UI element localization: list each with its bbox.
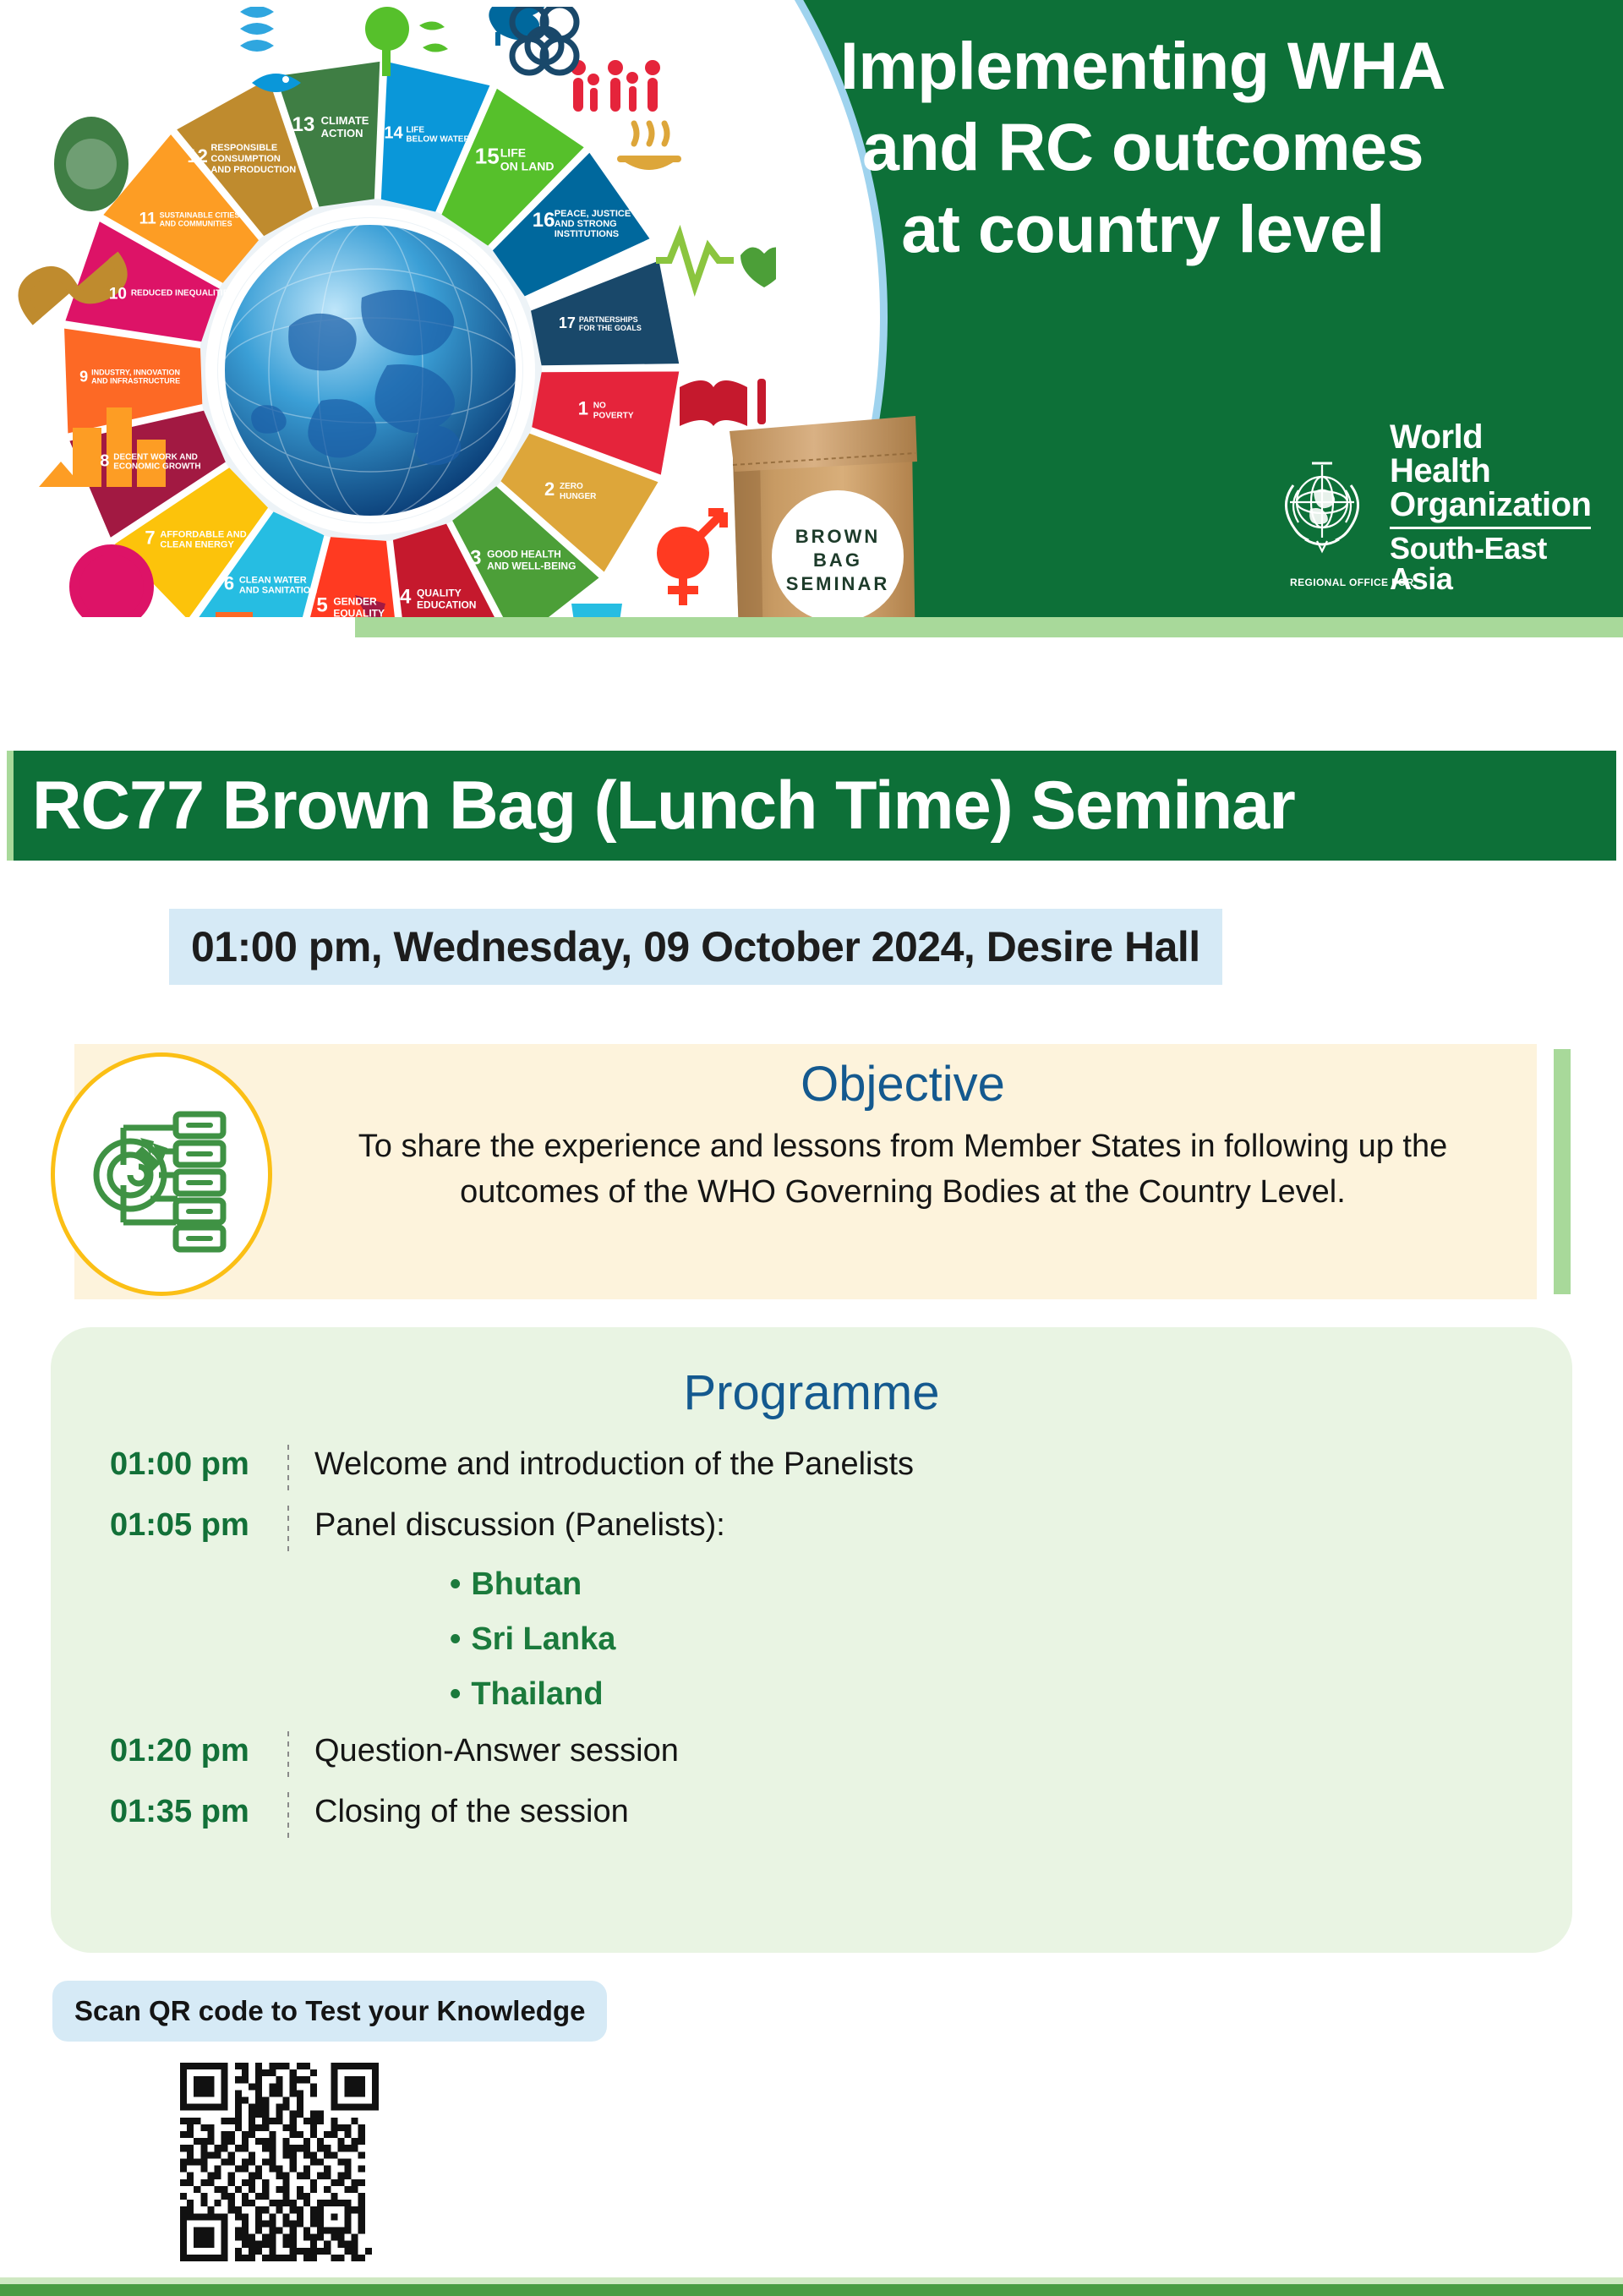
who-regional-label: REGIONAL OFFICE FOR: [1290, 577, 1414, 588]
programme-row: 01:05 pm Panel discussion (Panelists):: [110, 1506, 1572, 1551]
panelist-item: •Bhutan: [450, 1566, 1572, 1603]
svg-text:NO: NO: [593, 402, 606, 411]
poster-root: 1NOPOVERTY 2ZEROHUNGER 3GOOD HEALTHAND W…: [0, 0, 1623, 2296]
svg-text:17: 17: [559, 314, 576, 331]
brown-bag-label-line1: BROWN: [795, 526, 881, 547]
objective-section: Objective To share the experience and le…: [74, 1044, 1571, 1299]
who-line2: Organization: [1390, 488, 1591, 522]
objective-icon-circle: [51, 1052, 272, 1296]
svg-text:CLIMATE: CLIMATE: [321, 114, 369, 127]
programme-heading: Programme: [51, 1327, 1572, 1421]
svg-text:ON LAND: ON LAND: [500, 159, 555, 172]
programme-list: 01:00 pm Welcome and introduction of the…: [51, 1445, 1572, 1838]
panelist-item: •Thailand: [450, 1676, 1572, 1713]
event-datetime-text: 01:00 pm, Wednesday, 09 October 2024, De…: [191, 922, 1200, 971]
svg-text:AND STRONG: AND STRONG: [555, 219, 617, 229]
svg-text:4: 4: [400, 586, 412, 609]
svg-text:ECONOMIC GROWTH: ECONOMIC GROWTH: [113, 462, 200, 471]
svg-text:SUSTAINABLE CITIES: SUSTAINABLE CITIES: [160, 211, 240, 220]
programme-row-divider: [287, 1731, 289, 1777]
svg-text:EDUCATION: EDUCATION: [417, 599, 476, 611]
programme-section: Programme 01:00 pm Welcome and introduct…: [51, 1327, 1572, 1953]
svg-text:INSTITUTIONS: INSTITUTIONS: [555, 229, 619, 239]
svg-text:11: 11: [139, 210, 157, 228]
page-title: Implementing WHA and RC outcomes at coun…: [703, 25, 1582, 270]
svg-text:DECENT WORK AND: DECENT WORK AND: [113, 452, 198, 462]
seminar-title-bar: RC77 Brown Bag (Lunch Time) Seminar: [7, 751, 1616, 861]
panelist-name: Bhutan: [471, 1566, 582, 1602]
svg-text:6: 6: [224, 573, 234, 594]
svg-text:13: 13: [292, 113, 315, 136]
panelist-list: •Bhutan •Sri Lanka •Thailand: [110, 1566, 1572, 1713]
bullet-icon: •: [450, 1566, 461, 1602]
programme-description: Panel discussion (Panelists):: [314, 1506, 725, 1544]
svg-text:AND SANITATION: AND SANITATION: [239, 586, 318, 596]
svg-text:5: 5: [316, 593, 327, 616]
poster-header: 1NOPOVERTY 2ZEROHUNGER 3GOOD HEALTHAND W…: [0, 0, 1623, 617]
bullet-icon: •: [450, 1676, 461, 1712]
svg-text:HUNGER: HUNGER: [560, 492, 597, 501]
svg-text:3: 3: [470, 546, 481, 569]
svg-text:ACTION: ACTION: [321, 127, 363, 139]
brown-bag-label-line2: BAG: [813, 549, 862, 571]
svg-text:10: 10: [109, 285, 127, 303]
svg-text:15: 15: [475, 143, 500, 168]
programme-row: 01:20 pm Question-Answer session: [110, 1731, 1572, 1777]
svg-text:REDUCED INEQUALITIES: REDUCED INEQUALITIES: [131, 288, 235, 298]
footer-light-strip: [0, 2277, 1623, 2284]
svg-text:12: 12: [187, 145, 207, 167]
svg-text:POVERTY: POVERTY: [593, 412, 634, 421]
programme-row: 01:00 pm Welcome and introduction of the…: [110, 1445, 1572, 1490]
programme-description: Welcome and introduction of the Panelist…: [314, 1445, 914, 1483]
seminar-title: RC77 Brown Bag (Lunch Time) Seminar: [14, 767, 1295, 845]
programme-time: 01:00 pm: [110, 1445, 287, 1483]
svg-text:QUALITY: QUALITY: [417, 588, 462, 599]
programme-row-divider: [287, 1445, 289, 1490]
panelist-item: •Sri Lanka: [450, 1621, 1572, 1658]
who-logo: World Health Organization REGIONAL OFFIC…: [1268, 435, 1589, 579]
svg-text:CONSUMPTION: CONSUMPTION: [210, 154, 281, 164]
svg-text:AND PRODUCTION: AND PRODUCTION: [210, 165, 296, 175]
svg-text:AND INFRASTRUCTURE: AND INFRASTRUCTURE: [91, 377, 180, 385]
objective-body: Objective To share the experience and le…: [294, 1056, 1511, 1216]
programme-time: 01:05 pm: [110, 1506, 287, 1544]
svg-text:AND WELL-BEING: AND WELL-BEING: [487, 560, 576, 571]
svg-text:PEACE, JUSTICE: PEACE, JUSTICE: [555, 209, 631, 219]
programme-row-divider: [287, 1792, 289, 1838]
svg-text:1: 1: [578, 398, 588, 419]
sdg-wheel-icon: 1NOPOVERTY 2ZEROHUNGER 3GOOD HEALTHAND W…: [15, 7, 776, 617]
svg-text:RESPONSIBLE: RESPONSIBLE: [210, 143, 277, 153]
programme-time: 01:35 pm: [110, 1792, 287, 1830]
svg-text:8: 8: [100, 451, 109, 470]
qr-instruction-pill: Scan QR code to Test your Knowledge: [52, 1981, 607, 2042]
svg-text:BELOW WATER: BELOW WATER: [406, 134, 470, 144]
footer-green-bar: [0, 2284, 1623, 2296]
svg-text:2: 2: [544, 478, 555, 500]
svg-text:EQUALITY: EQUALITY: [333, 607, 385, 617]
svg-text:LIFE: LIFE: [500, 145, 526, 159]
title-line-2: and RC outcomes: [703, 107, 1582, 188]
svg-text:FOR THE GOALS: FOR THE GOALS: [579, 324, 642, 332]
svg-text:INDUSTRY, INNOVATION: INDUSTRY, INNOVATION: [91, 369, 180, 377]
qr-instruction-text: Scan QR code to Test your Knowledge: [74, 1995, 585, 2027]
svg-text:CLEAN WATER: CLEAN WATER: [239, 576, 307, 586]
svg-text:GENDER: GENDER: [333, 595, 377, 607]
programme-row: 01:35 pm Closing of the session: [110, 1792, 1572, 1838]
svg-text:ZERO: ZERO: [560, 482, 583, 491]
svg-text:14: 14: [384, 123, 403, 142]
svg-text:PARTNERSHIPS: PARTNERSHIPS: [579, 315, 638, 324]
target-checklist-icon: [90, 1094, 233, 1255]
svg-text:AFFORDABLE AND: AFFORDABLE AND: [160, 529, 246, 539]
svg-text:AND COMMUNITIES: AND COMMUNITIES: [160, 220, 232, 228]
svg-text:CLEAN ENERGY: CLEAN ENERGY: [160, 539, 234, 549]
panelist-name: Sri Lanka: [471, 1621, 615, 1657]
svg-text:GOOD HEALTH: GOOD HEALTH: [487, 548, 561, 560]
svg-text:9: 9: [79, 369, 88, 385]
who-divider: [1390, 527, 1591, 529]
objective-text: To share the experience and lessons from…: [294, 1124, 1511, 1216]
header-bottom-strip: [355, 617, 1623, 637]
who-emblem-icon: [1268, 453, 1376, 561]
svg-text:LIFE: LIFE: [406, 125, 424, 134]
brown-bag-label-line3: SEMINAR: [786, 573, 889, 594]
bullet-icon: •: [450, 1621, 461, 1657]
programme-description: Question-Answer session: [314, 1731, 679, 1769]
brown-bag-illustration: BROWN BAG SEMINAR: [714, 406, 934, 617]
objective-heading: Objective: [294, 1056, 1511, 1112]
programme-time: 01:20 pm: [110, 1731, 287, 1769]
objective-accent-bar: [1554, 1049, 1571, 1294]
svg-text:16: 16: [533, 209, 555, 232]
title-line-1: Implementing WHA: [703, 25, 1582, 107]
svg-text:7: 7: [145, 527, 155, 548]
programme-description: Closing of the session: [314, 1792, 629, 1830]
title-line-3: at country level: [703, 189, 1582, 270]
programme-row-divider: [287, 1506, 289, 1551]
panelist-name: Thailand: [471, 1676, 603, 1712]
qr-code-icon[interactable]: [180, 2063, 379, 2261]
who-line1: World Health: [1390, 420, 1591, 488]
event-datetime-banner: 01:00 pm, Wednesday, 09 October 2024, De…: [169, 909, 1222, 985]
